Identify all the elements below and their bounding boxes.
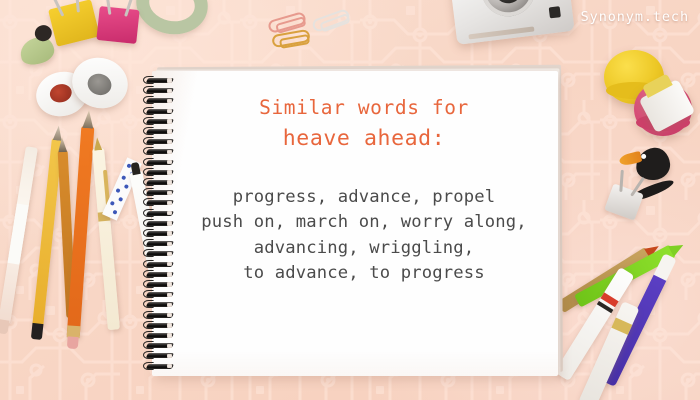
eraser-stone-inlay	[85, 71, 114, 98]
spiral-punch-hole	[167, 170, 172, 174]
camera-shutter-button	[549, 6, 561, 18]
spiral-ring	[143, 352, 177, 359]
synonym-line: push on, march on, worry along,	[186, 210, 542, 235]
spiral-punch-hole	[167, 333, 172, 337]
spiral-ring	[143, 332, 177, 339]
washi-dot	[115, 188, 120, 193]
spiral-punch-hole	[167, 78, 172, 82]
spiral-ring	[143, 169, 177, 176]
spiral-punch-hole	[167, 211, 172, 215]
pencil-eraser	[67, 336, 79, 349]
spiral-ring	[143, 108, 177, 115]
spiral-punch-hole	[167, 313, 172, 317]
spiral-punch-hole	[167, 272, 172, 276]
pencil-end-cap	[31, 323, 44, 340]
spiral-punch-hole	[167, 160, 172, 164]
spiral-ring	[143, 230, 177, 237]
spiral-ring	[143, 250, 177, 257]
spiral-ring	[143, 271, 177, 278]
spiral-ring	[143, 87, 177, 94]
spiral-punch-hole	[167, 119, 172, 123]
spiral-punch-hole	[167, 262, 172, 266]
spiral-punch-hole	[167, 293, 172, 297]
spiral-ring	[143, 291, 177, 298]
spiral-ring	[143, 240, 177, 247]
spiral-ring	[143, 199, 177, 206]
spiral-ring	[143, 77, 177, 84]
spiral-punch-hole	[167, 150, 172, 154]
toucan-eye	[641, 154, 646, 159]
spiral-ring	[143, 179, 177, 186]
notebook: Similar words for heave ahead: progress,…	[152, 71, 562, 378]
washi-dot	[124, 184, 129, 189]
spiral-punch-hole	[167, 252, 172, 256]
spiral-punch-hole	[167, 99, 172, 103]
spiral-punch-hole	[167, 201, 172, 205]
spiral-punch-hole	[167, 89, 172, 93]
spiral-ring	[143, 189, 177, 196]
spiral-ring	[143, 312, 177, 319]
synonym-line: to advance, to progress	[186, 261, 542, 286]
brand-logo: Synonym.tech	[581, 9, 689, 25]
spiral-ring	[143, 148, 177, 155]
spiral-ring	[143, 301, 177, 308]
spiral-ring	[143, 261, 177, 268]
washi-dot	[118, 197, 123, 202]
spiral-punch-hole	[167, 323, 172, 327]
spiral-ring	[143, 118, 177, 125]
spiral-ring	[143, 363, 177, 370]
spiral-punch-hole	[167, 129, 172, 133]
washi-dot	[110, 201, 115, 206]
spiral-punch-hole	[167, 364, 172, 368]
spiral-punch-hole	[167, 180, 172, 184]
spiral-ring	[143, 342, 177, 349]
washi-dot	[121, 175, 126, 180]
synonym-card-scene: Similar words for heave ahead: progress,…	[0, 0, 700, 400]
spiral-ring	[143, 281, 177, 288]
spiral-ring	[143, 128, 177, 135]
synonym-line: progress, advance, propel	[186, 185, 542, 210]
spiral-punch-hole	[167, 109, 172, 113]
spiral-ring	[143, 322, 177, 329]
synonym-list: progress, advance, propel push on, march…	[186, 185, 542, 287]
spiral-ring	[143, 138, 177, 145]
spiral-ring	[143, 97, 177, 104]
washi-dot	[112, 210, 117, 215]
notebook-page: Similar words for heave ahead: progress,…	[152, 71, 558, 376]
synonym-content: Similar words for heave ahead: progress,…	[186, 93, 542, 287]
synonym-line: advancing, wriggling,	[186, 236, 542, 261]
spiral-punch-hole	[167, 231, 172, 235]
spiral-punch-hole	[167, 242, 172, 246]
eraser-stone-inlay	[48, 82, 74, 105]
spiral-ring	[143, 159, 177, 166]
spiral-punch-hole	[167, 140, 172, 144]
spiral-ring	[143, 220, 177, 227]
spiral-binding	[143, 75, 183, 375]
spiral-punch-hole	[167, 354, 172, 358]
spiral-ring	[143, 210, 177, 217]
spiral-punch-hole	[167, 303, 172, 307]
title-line-2-headword: heave ahead:	[186, 123, 542, 155]
spiral-punch-hole	[167, 282, 172, 286]
spiral-punch-hole	[167, 191, 172, 195]
binder-clip-pink	[96, 6, 139, 44]
camera-lens	[478, 0, 538, 19]
title-line-1: Similar words for	[186, 93, 542, 123]
spiral-punch-hole	[167, 344, 172, 348]
spiral-punch-hole	[167, 221, 172, 225]
